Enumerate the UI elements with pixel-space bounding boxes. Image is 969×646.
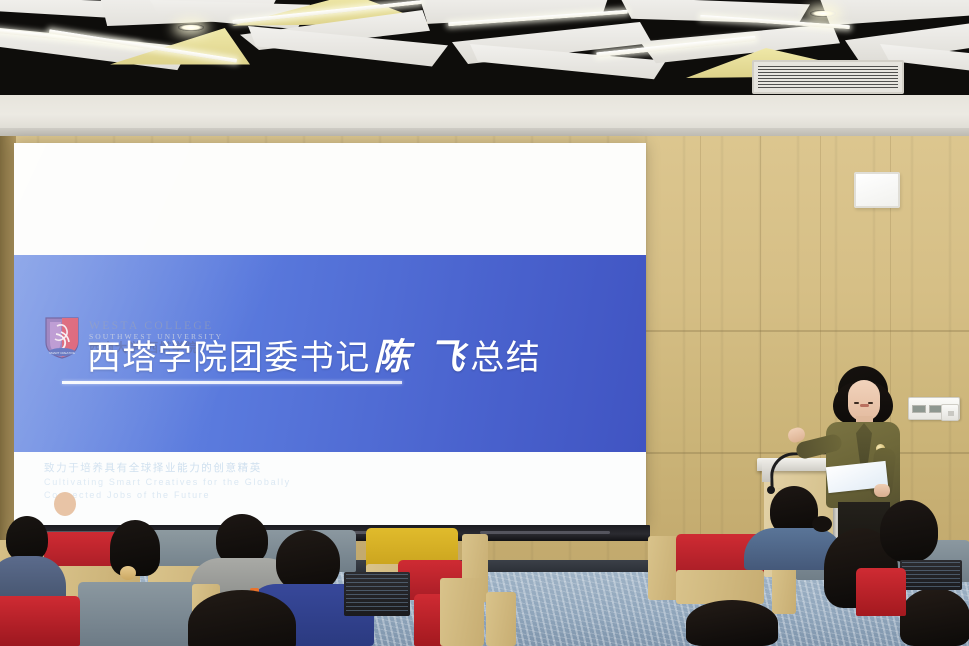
audience-head-foreground [900,588,969,646]
speaker-mouth [860,404,869,407]
seat-back-panel [486,592,516,646]
seat-back-panel [440,578,484,646]
hair-tie [812,516,832,532]
lecture-hall-scene: SMART CREATIVE WESTA COLLEGE SOUTHWEST U… [0,0,969,646]
ceiling-downlight [178,24,204,31]
slide-header-area [14,143,646,255]
laptop-screen [346,574,408,614]
slide-title-name: 陈 飞 [374,328,468,380]
tagline-english-line1: Cultivating Smart Creatives for the Glob… [44,476,291,489]
slide-title-suffix: 总结 [470,330,541,379]
wall-whiteboard [854,172,900,208]
seat-back-panel [676,570,764,604]
wall-seam [646,330,969,332]
laptop-screen [902,562,960,588]
audience-head [276,530,340,592]
speaker-right-hand [874,484,890,497]
projection-screen: SMART CREATIVE WESTA COLLEGE SOUTHWEST U… [14,143,646,528]
speaker-face [848,380,880,421]
audience-head [880,500,938,562]
speaker-eye [854,402,859,404]
vent-grille [758,66,898,88]
hvac-vent [752,60,904,94]
slide-title-underline [62,381,402,384]
outlet-socket [948,411,954,416]
bezel-notch [480,531,610,534]
tagline-chinese: 致力于培养具有全球择业能力的创意精英 [44,461,291,476]
wall-grain [700,136,701,566]
slide-title-prefix: 西塔学院团委书记 [87,330,371,379]
svg-text:SMART CREATIVE: SMART CREATIVE [49,351,75,355]
ceiling-downlight [810,10,836,17]
wall-outlet-plate[interactable] [941,404,959,421]
audience-head [110,520,160,576]
seat-gray [78,582,198,646]
tagline-english-line2: Connected Jobs of the Future [44,489,291,502]
wall-grain [760,136,761,566]
audience-head-foreground [686,600,778,646]
seat-red [856,568,906,616]
laptop[interactable] [900,560,962,590]
slide-title: 西塔学院团委书记陈 飞总结 [74,328,554,380]
slide-tagline: 致力于培养具有全球择业能力的创意精英 Cultivating Smart Cre… [44,461,291,502]
seat-red [0,596,80,646]
audience-head [54,492,76,516]
microphone-icon [767,486,775,494]
ceiling [0,0,969,97]
laptop[interactable] [344,572,410,616]
hair-clip [120,566,136,580]
